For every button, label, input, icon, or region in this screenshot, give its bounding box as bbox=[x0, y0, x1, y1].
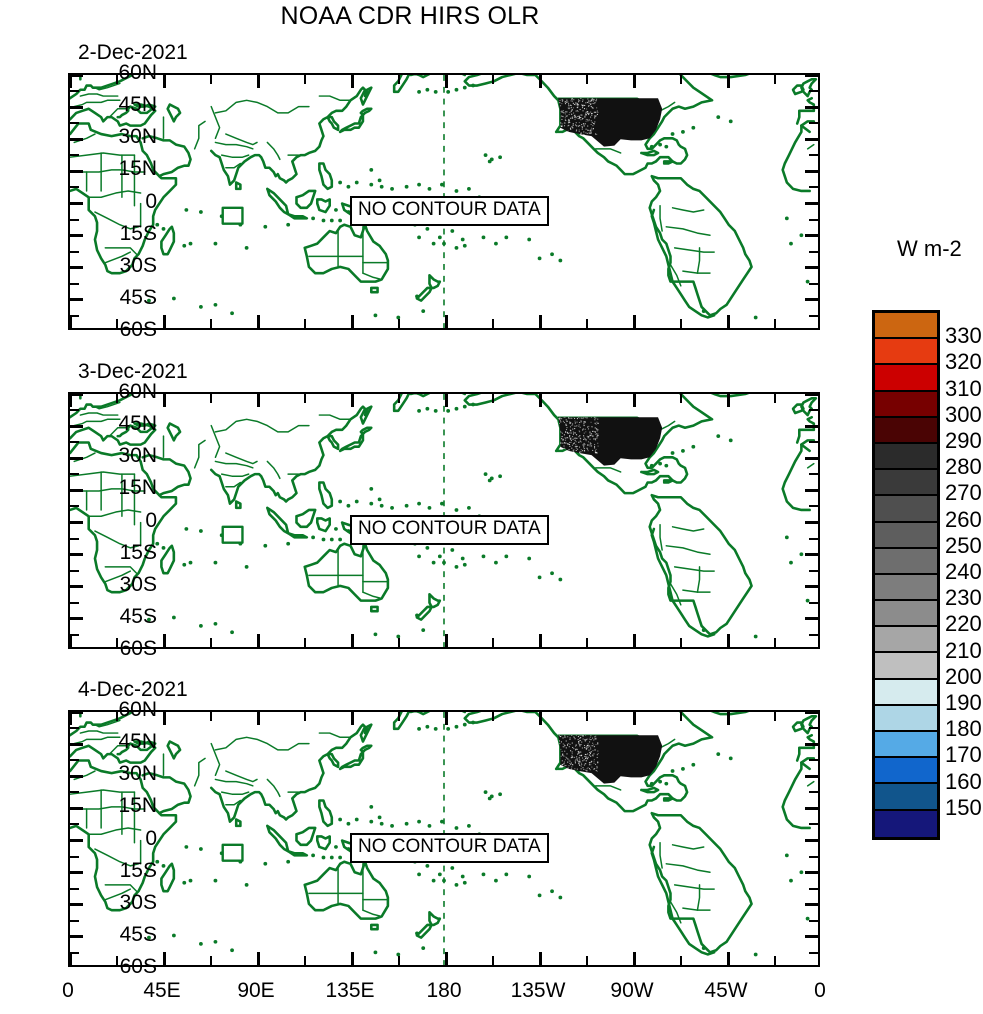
x-axis-tick bbox=[69, 75, 72, 88]
y-axis-tick bbox=[70, 202, 83, 205]
colorbar-segment[interactable] bbox=[875, 601, 937, 627]
x-axis-minor-tick bbox=[304, 75, 306, 84]
y-axis-tick bbox=[70, 138, 83, 141]
x-axis-tick bbox=[69, 315, 72, 328]
colorbar-tick-label: 200 bbox=[945, 664, 982, 690]
x-axis-minor-tick bbox=[116, 638, 118, 647]
y-axis-tick bbox=[70, 617, 83, 620]
panel-frame: NO CONTOUR DATA bbox=[68, 73, 820, 330]
y-axis-tick bbox=[70, 585, 83, 588]
y-axis-tick bbox=[805, 457, 818, 460]
x-axis-minor-tick bbox=[680, 638, 682, 647]
y-axis-minor-tick bbox=[809, 441, 818, 443]
y-axis-tick bbox=[70, 743, 83, 746]
y-axis-label: 45S bbox=[120, 286, 157, 310]
x-axis-minor-tick bbox=[680, 394, 682, 403]
x-axis-minor-tick bbox=[774, 712, 776, 721]
x-axis-tick bbox=[257, 634, 260, 647]
x-axis-minor-tick bbox=[210, 75, 212, 84]
y-axis-tick bbox=[70, 839, 83, 842]
no-contour-data-annotation: NO CONTOUR DATA bbox=[350, 833, 549, 863]
y-axis-label: 15S bbox=[120, 222, 157, 246]
y-axis-tick bbox=[805, 775, 818, 778]
x-axis-minor-tick bbox=[210, 319, 212, 328]
x-axis-minor-tick bbox=[586, 638, 588, 647]
y-axis-tick bbox=[805, 585, 818, 588]
y-axis-minor-tick bbox=[809, 315, 818, 317]
colorbar[interactable] bbox=[872, 310, 940, 840]
x-axis-tick bbox=[257, 315, 260, 328]
y-axis-minor-tick bbox=[809, 920, 818, 922]
x-axis-minor-tick bbox=[210, 638, 212, 647]
x-axis-label: 135E bbox=[325, 979, 374, 1003]
y-axis-minor-tick bbox=[809, 634, 818, 636]
x-axis-minor-tick bbox=[210, 394, 212, 403]
y-axis-minor-tick bbox=[70, 856, 79, 858]
y-axis-tick bbox=[70, 234, 83, 237]
y-axis-minor-tick bbox=[809, 823, 818, 825]
y-axis-minor-tick bbox=[70, 473, 79, 475]
colorbar-segment[interactable] bbox=[875, 732, 937, 758]
y-axis-minor-tick bbox=[809, 791, 818, 793]
y-axis-tick bbox=[70, 903, 83, 906]
colorbar-tick-label: 170 bbox=[945, 742, 982, 768]
x-axis-tick bbox=[633, 394, 636, 407]
y-axis-label: 60S bbox=[120, 318, 157, 342]
x-axis-minor-tick bbox=[304, 319, 306, 328]
y-axis-label: 45N bbox=[118, 412, 157, 436]
x-axis-tick bbox=[163, 394, 166, 407]
x-axis-tick bbox=[163, 315, 166, 328]
y-axis-tick bbox=[70, 807, 83, 810]
x-axis-tick bbox=[727, 952, 730, 965]
x-axis-tick bbox=[539, 712, 542, 725]
x-axis-tick bbox=[633, 315, 636, 328]
x-axis-tick bbox=[445, 634, 448, 647]
y-axis-minor-tick bbox=[809, 856, 818, 858]
x-axis-label: 0 bbox=[62, 979, 74, 1003]
x-axis-minor-tick bbox=[586, 394, 588, 403]
y-axis-label: 30S bbox=[120, 254, 157, 278]
y-axis-minor-tick bbox=[70, 570, 79, 572]
y-axis-tick bbox=[70, 393, 83, 396]
y-axis-tick bbox=[805, 489, 818, 492]
x-axis-minor-tick bbox=[398, 956, 400, 965]
y-axis-label: 0 bbox=[145, 509, 157, 533]
y-axis-tick bbox=[70, 106, 83, 109]
x-axis-minor-tick bbox=[398, 712, 400, 721]
x-axis-tick bbox=[69, 952, 72, 965]
y-axis-tick bbox=[805, 617, 818, 620]
y-axis-tick bbox=[805, 74, 818, 77]
y-axis-label: 45S bbox=[120, 605, 157, 629]
colorbar-unit-label: W m-2 bbox=[897, 236, 962, 262]
x-axis-minor-tick bbox=[304, 394, 306, 403]
x-axis-tick bbox=[351, 315, 354, 328]
colorbar-tick-label: 260 bbox=[945, 507, 982, 533]
x-axis-tick bbox=[727, 712, 730, 725]
y-axis-minor-tick bbox=[809, 251, 818, 253]
x-axis-minor-tick bbox=[398, 638, 400, 647]
y-axis-label: 15S bbox=[120, 541, 157, 565]
colorbar-segment[interactable] bbox=[875, 365, 937, 391]
y-axis-label: 15N bbox=[118, 476, 157, 500]
y-axis-label: 60N bbox=[118, 698, 157, 722]
x-axis-minor-tick bbox=[774, 394, 776, 403]
x-axis-label: 0 bbox=[814, 979, 826, 1003]
colorbar-tick-label: 180 bbox=[945, 716, 982, 742]
x-axis-minor-tick bbox=[304, 956, 306, 965]
y-axis-tick bbox=[70, 425, 83, 428]
y-axis-label: 0 bbox=[145, 190, 157, 214]
x-axis-tick bbox=[633, 634, 636, 647]
x-axis-tick bbox=[69, 712, 72, 725]
x-axis-tick bbox=[257, 75, 260, 88]
y-axis-label: 30S bbox=[120, 573, 157, 597]
y-axis-label: 60N bbox=[118, 380, 157, 404]
y-axis-minor-tick bbox=[809, 409, 818, 411]
colorbar-tick-label: 220 bbox=[945, 611, 982, 637]
x-axis-minor-tick bbox=[492, 638, 494, 647]
y-axis-minor-tick bbox=[70, 283, 79, 285]
y-axis-tick bbox=[805, 202, 818, 205]
y-axis-minor-tick bbox=[70, 409, 79, 411]
y-axis-label: 45S bbox=[120, 923, 157, 947]
x-axis-tick bbox=[539, 75, 542, 88]
x-axis-minor-tick bbox=[586, 75, 588, 84]
y-axis-label: 30N bbox=[118, 444, 157, 468]
y-axis-tick bbox=[70, 266, 83, 269]
x-axis-minor-tick bbox=[398, 319, 400, 328]
y-axis-minor-tick bbox=[809, 219, 818, 221]
x-axis-tick bbox=[445, 315, 448, 328]
x-axis-minor-tick bbox=[680, 319, 682, 328]
map-panel-3[interactable]: 4-Dec-2021 NO CONTOUR DATA bbox=[68, 710, 820, 967]
panel-frame: NO CONTOUR DATA bbox=[68, 392, 820, 649]
x-axis-minor-tick bbox=[492, 319, 494, 328]
x-axis-tick bbox=[351, 634, 354, 647]
y-axis-minor-tick bbox=[809, 570, 818, 572]
colorbar-segment[interactable] bbox=[875, 444, 937, 470]
y-axis-minor-tick bbox=[809, 888, 818, 890]
x-axis-label: 45E bbox=[143, 979, 180, 1003]
colorbar-segment[interactable] bbox=[875, 680, 937, 706]
y-axis-label: 45N bbox=[118, 730, 157, 754]
y-axis-minor-tick bbox=[70, 154, 79, 156]
x-axis-tick bbox=[163, 952, 166, 965]
colorbar-segment[interactable] bbox=[875, 758, 937, 784]
colorbar-tick-label: 150 bbox=[945, 795, 982, 821]
y-axis-tick bbox=[805, 871, 818, 874]
map-panel-2[interactable]: 3-Dec-2021 NO CONTOUR DATA bbox=[68, 392, 820, 649]
y-axis-minor-tick bbox=[809, 122, 818, 124]
x-axis-tick bbox=[727, 75, 730, 88]
figure-root: NOAA CDR HIRS OLR 2-Dec-2021 NO CONTOUR … bbox=[0, 0, 983, 1014]
y-axis-minor-tick bbox=[809, 727, 818, 729]
y-axis-minor-tick bbox=[809, 505, 818, 507]
x-axis-minor-tick bbox=[492, 712, 494, 721]
y-axis-minor-tick bbox=[809, 952, 818, 954]
colorbar-tick-label: 270 bbox=[945, 480, 982, 506]
x-axis-tick bbox=[163, 75, 166, 88]
y-axis-tick bbox=[70, 457, 83, 460]
x-axis-tick bbox=[633, 952, 636, 965]
colorbar-segment[interactable] bbox=[875, 496, 937, 522]
y-axis-tick bbox=[805, 138, 818, 141]
x-axis-tick bbox=[539, 394, 542, 407]
x-axis-label: 90W bbox=[610, 979, 653, 1003]
y-axis-tick bbox=[70, 489, 83, 492]
y-axis-tick bbox=[70, 553, 83, 556]
colorbar-tick-label: 250 bbox=[945, 533, 982, 559]
colorbar-tick-label: 280 bbox=[945, 454, 982, 480]
y-axis-minor-tick bbox=[70, 823, 79, 825]
y-axis-minor-tick bbox=[70, 727, 79, 729]
y-axis-minor-tick bbox=[70, 602, 79, 604]
y-axis-minor-tick bbox=[809, 538, 818, 540]
y-axis-tick bbox=[805, 839, 818, 842]
x-axis-tick bbox=[351, 394, 354, 407]
x-axis-tick bbox=[445, 75, 448, 88]
y-axis-label: 30N bbox=[118, 125, 157, 149]
y-axis-minor-tick bbox=[70, 441, 79, 443]
y-axis-minor-tick bbox=[70, 505, 79, 507]
x-axis-minor-tick bbox=[586, 956, 588, 965]
y-axis-tick bbox=[805, 393, 818, 396]
x-axis-tick bbox=[445, 952, 448, 965]
no-contour-data-annotation: NO CONTOUR DATA bbox=[350, 196, 549, 226]
y-axis-tick bbox=[805, 106, 818, 109]
x-axis-tick bbox=[445, 712, 448, 725]
y-axis-tick bbox=[805, 298, 818, 301]
y-axis-minor-tick bbox=[70, 122, 79, 124]
y-axis-tick bbox=[805, 170, 818, 173]
colorbar-segment[interactable] bbox=[875, 339, 937, 365]
x-axis-tick bbox=[633, 712, 636, 725]
colorbar-segment[interactable] bbox=[875, 575, 937, 601]
x-axis-tick bbox=[727, 634, 730, 647]
panel-frame: NO CONTOUR DATA bbox=[68, 710, 820, 967]
y-axis-tick bbox=[70, 775, 83, 778]
y-axis-tick bbox=[70, 711, 83, 714]
colorbar-segment[interactable] bbox=[875, 523, 937, 549]
colorbar-tick-label: 300 bbox=[945, 402, 982, 428]
y-axis-tick bbox=[805, 935, 818, 938]
y-axis-tick bbox=[805, 234, 818, 237]
x-axis-minor-tick bbox=[492, 956, 494, 965]
y-axis-minor-tick bbox=[809, 90, 818, 92]
x-axis-label: 90E bbox=[237, 979, 274, 1003]
colorbar-tick-label: 210 bbox=[945, 638, 982, 664]
x-axis-label: 135W bbox=[511, 979, 566, 1003]
colorbar-tick-label: 240 bbox=[945, 559, 982, 585]
colorbar-segment[interactable] bbox=[875, 392, 937, 418]
y-axis-minor-tick bbox=[809, 186, 818, 188]
x-axis-tick bbox=[257, 394, 260, 407]
map-panel-1[interactable]: 2-Dec-2021 NO CONTOUR DATA bbox=[68, 73, 820, 330]
x-axis-minor-tick bbox=[304, 638, 306, 647]
y-axis-tick bbox=[70, 935, 83, 938]
y-axis-minor-tick bbox=[70, 791, 79, 793]
y-axis-label: 60S bbox=[120, 955, 157, 979]
y-axis-minor-tick bbox=[70, 920, 79, 922]
x-axis-tick bbox=[727, 315, 730, 328]
y-axis-label: 60S bbox=[120, 637, 157, 661]
y-axis-minor-tick bbox=[70, 888, 79, 890]
x-axis-minor-tick bbox=[492, 394, 494, 403]
x-axis-minor-tick bbox=[210, 712, 212, 721]
colorbar-segment[interactable] bbox=[875, 418, 937, 444]
x-axis-tick bbox=[727, 394, 730, 407]
colorbar-tick-label: 190 bbox=[945, 690, 982, 716]
x-axis-minor-tick bbox=[304, 712, 306, 721]
x-axis-tick bbox=[69, 394, 72, 407]
y-axis-minor-tick bbox=[809, 602, 818, 604]
y-axis-tick bbox=[805, 521, 818, 524]
colorbar-segment[interactable] bbox=[875, 313, 937, 339]
y-axis-minor-tick bbox=[70, 538, 79, 540]
x-axis-minor-tick bbox=[774, 319, 776, 328]
x-axis-minor-tick bbox=[210, 956, 212, 965]
colorbar-segment[interactable] bbox=[875, 549, 937, 575]
y-axis-minor-tick bbox=[70, 759, 79, 761]
x-axis-minor-tick bbox=[774, 956, 776, 965]
y-axis-minor-tick bbox=[70, 219, 79, 221]
y-axis-tick bbox=[805, 266, 818, 269]
x-axis-tick bbox=[445, 394, 448, 407]
x-axis-minor-tick bbox=[586, 712, 588, 721]
y-axis-tick bbox=[805, 903, 818, 906]
x-axis-tick bbox=[351, 75, 354, 88]
y-axis-tick bbox=[805, 553, 818, 556]
colorbar-segment[interactable] bbox=[875, 653, 937, 679]
x-axis-tick bbox=[257, 952, 260, 965]
colorbar-tick-label: 290 bbox=[945, 428, 982, 454]
colorbar-tick-label: 310 bbox=[945, 376, 982, 402]
y-axis-tick bbox=[805, 743, 818, 746]
x-axis-minor-tick bbox=[680, 956, 682, 965]
x-axis-tick bbox=[163, 712, 166, 725]
y-axis-label: 60N bbox=[118, 61, 157, 85]
y-axis-minor-tick bbox=[809, 759, 818, 761]
y-axis-label: 45N bbox=[118, 93, 157, 117]
x-axis-minor-tick bbox=[586, 319, 588, 328]
colorbar-segment[interactable] bbox=[875, 706, 937, 732]
y-axis-label: 15N bbox=[118, 157, 157, 181]
colorbar-segment[interactable] bbox=[875, 784, 937, 810]
x-axis-tick bbox=[351, 952, 354, 965]
colorbar-segment[interactable] bbox=[875, 470, 937, 496]
y-axis-label: 15N bbox=[118, 794, 157, 818]
x-axis-tick bbox=[351, 712, 354, 725]
y-axis-tick bbox=[70, 298, 83, 301]
y-axis-minor-tick bbox=[70, 251, 79, 253]
colorbar-tick-label: 330 bbox=[945, 323, 982, 349]
y-axis-tick bbox=[70, 521, 83, 524]
colorbar-tick-label: 230 bbox=[945, 585, 982, 611]
y-axis-minor-tick bbox=[809, 283, 818, 285]
x-axis-minor-tick bbox=[398, 394, 400, 403]
y-axis-label: 0 bbox=[145, 827, 157, 851]
x-axis-minor-tick bbox=[398, 75, 400, 84]
y-axis-tick bbox=[70, 74, 83, 77]
x-axis-minor-tick bbox=[774, 638, 776, 647]
y-axis-label: 15S bbox=[120, 859, 157, 883]
x-axis-minor-tick bbox=[492, 75, 494, 84]
y-axis-tick bbox=[805, 807, 818, 810]
x-axis-minor-tick bbox=[680, 75, 682, 84]
y-axis-label: 30S bbox=[120, 891, 157, 915]
colorbar-tick-label: 160 bbox=[945, 769, 982, 795]
colorbar-tick-label: 320 bbox=[945, 349, 982, 375]
x-axis-label: 45W bbox=[704, 979, 747, 1003]
x-axis-tick bbox=[257, 712, 260, 725]
x-axis-tick bbox=[539, 952, 542, 965]
x-axis-tick bbox=[539, 315, 542, 328]
y-axis-minor-tick bbox=[809, 154, 818, 156]
x-axis-minor-tick bbox=[116, 319, 118, 328]
x-axis-label: 180 bbox=[426, 979, 461, 1003]
x-axis-tick bbox=[69, 634, 72, 647]
y-axis-tick bbox=[805, 711, 818, 714]
page-title: NOAA CDR HIRS OLR bbox=[0, 2, 820, 31]
x-axis-minor-tick bbox=[774, 75, 776, 84]
colorbar-segment[interactable] bbox=[875, 627, 937, 653]
no-contour-data-annotation: NO CONTOUR DATA bbox=[350, 515, 549, 545]
y-axis-minor-tick bbox=[809, 473, 818, 475]
x-axis-tick bbox=[539, 634, 542, 647]
x-axis-tick bbox=[633, 75, 636, 88]
y-axis-tick bbox=[70, 871, 83, 874]
x-axis-tick bbox=[163, 634, 166, 647]
y-axis-tick bbox=[805, 425, 818, 428]
y-axis-minor-tick bbox=[70, 90, 79, 92]
y-axis-tick bbox=[70, 170, 83, 173]
x-axis-minor-tick bbox=[116, 956, 118, 965]
colorbar-segment[interactable] bbox=[875, 811, 937, 837]
y-axis-label: 30N bbox=[118, 762, 157, 786]
y-axis-minor-tick bbox=[70, 186, 79, 188]
x-axis-minor-tick bbox=[680, 712, 682, 721]
